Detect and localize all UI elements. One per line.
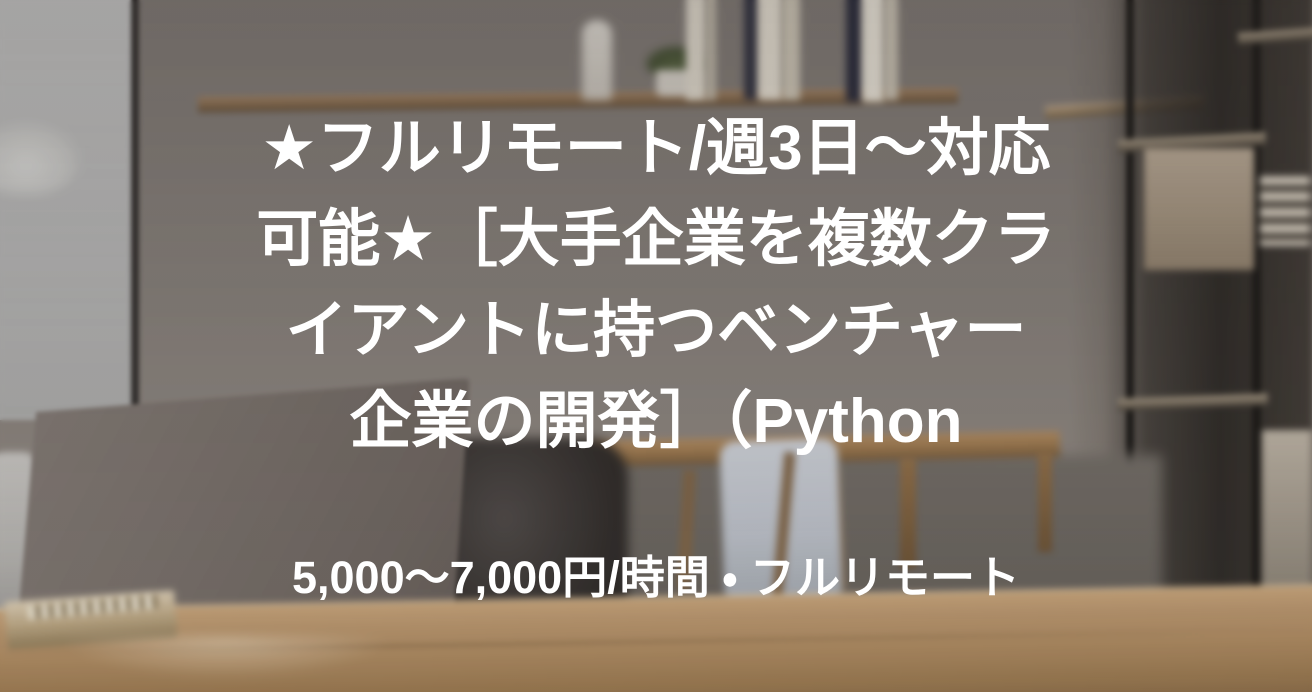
job-posting-banner: ★フルリモート/週3日〜対応可能★［大手企業を複数クライアントに持つベンチャー企…: [0, 0, 1312, 692]
job-headline: ★フルリモート/週3日〜対応可能★［大手企業を複数クライアントに持つベンチャー企…: [256, 103, 1056, 467]
job-subline: 5,000〜7,000円/時間 ・ フルリモート: [106, 549, 1206, 607]
text-overlay: ★フルリモート/週3日〜対応可能★［大手企業を複数クライアントに持つベンチャー企…: [0, 0, 1312, 692]
